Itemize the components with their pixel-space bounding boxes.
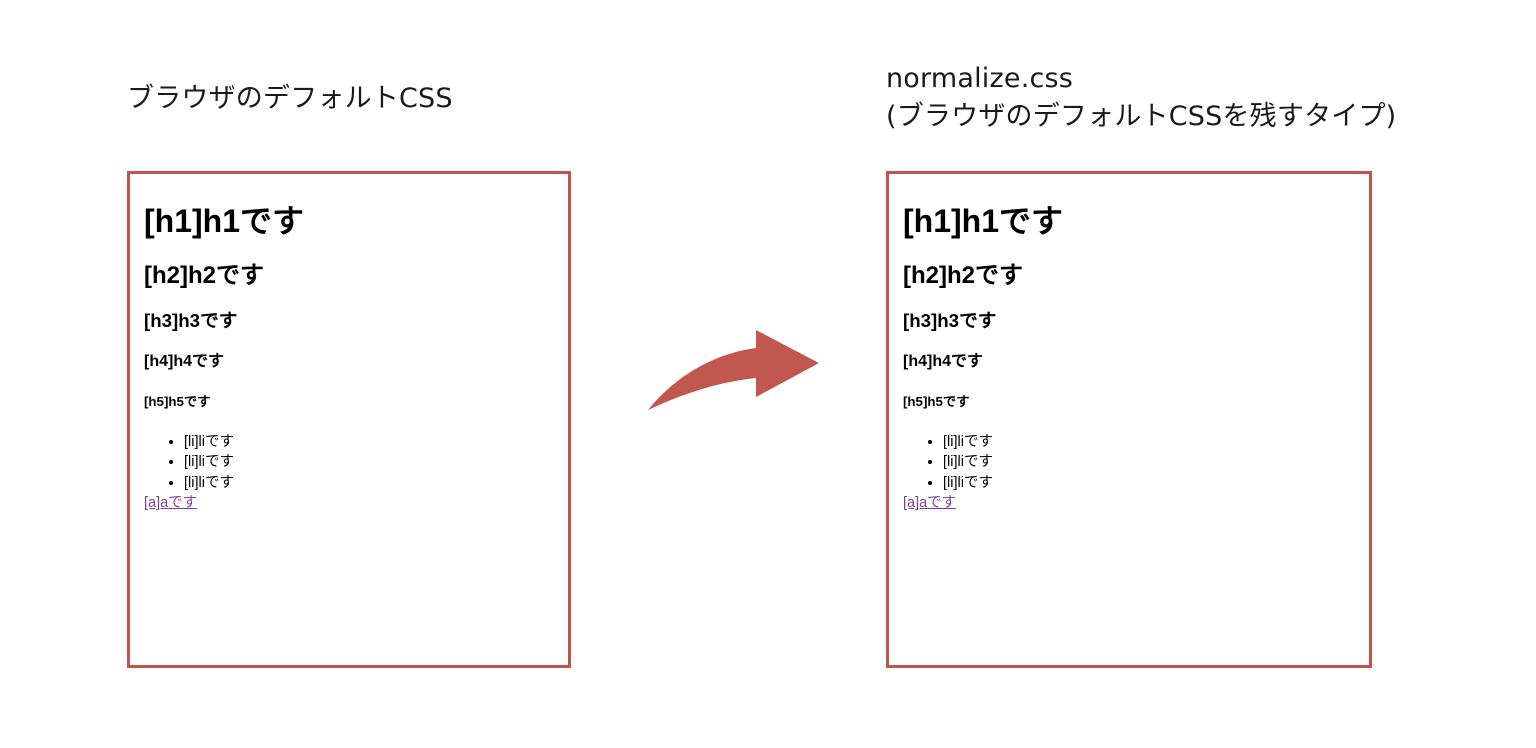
left-panel-caption: ブラウザのデフォルトCSS [127, 80, 453, 118]
transition-arrow [638, 318, 833, 418]
right-anchor-link[interactable]: [a]aです [903, 495, 956, 511]
list-item: [li]liです [184, 473, 554, 494]
left-heading-h3: [h3]h3です [144, 310, 554, 332]
right-heading-h1: [h1]h1です [903, 203, 1355, 241]
left-rendered-document: [h1]h1です [h2]h2です [h3]h3です [h4]h4です [h5]… [130, 174, 568, 522]
curved-right-arrow-icon [638, 318, 833, 418]
left-heading-h1: [h1]h1です [144, 203, 554, 241]
right-unordered-list: [li]liです [li]liです [li]liです [903, 432, 1355, 494]
right-heading-h5: [h5]h5です [903, 394, 1355, 410]
diagram-canvas: ブラウザのデフォルトCSS [h1]h1です [h2]h2です [h3]h3です… [0, 0, 1536, 748]
right-link-line: [a]aです [903, 493, 1355, 514]
list-item: [li]liです [943, 473, 1355, 494]
right-caption-line-1: normalize.css [886, 60, 1396, 98]
right-panel-caption: normalize.css (ブラウザのデフォルトCSSを残すタイプ) [886, 60, 1396, 136]
left-anchor-link[interactable]: [a]aです [144, 495, 197, 511]
right-caption-line-2: (ブラウザのデフォルトCSSを残すタイプ) [886, 98, 1396, 136]
left-heading-h5: [h5]h5です [144, 394, 554, 410]
right-heading-h4: [h4]h4です [903, 353, 1355, 372]
left-unordered-list: [li]liです [li]liです [li]liです [144, 432, 554, 494]
right-rendered-document: [h1]h1です [h2]h2です [h3]h3です [h4]h4です [h5]… [889, 174, 1369, 522]
right-heading-h3: [h3]h3です [903, 310, 1355, 332]
right-heading-h2: [h2]h2です [903, 262, 1355, 290]
normalize-css-panel: [h1]h1です [h2]h2です [h3]h3です [h4]h4です [h5]… [886, 171, 1372, 668]
list-item: [li]liです [184, 432, 554, 453]
list-item: [li]liです [943, 432, 1355, 453]
left-heading-h4: [h4]h4です [144, 353, 554, 372]
left-heading-h2: [h2]h2です [144, 262, 554, 290]
left-link-line: [a]aです [144, 493, 554, 514]
list-item: [li]liです [184, 452, 554, 473]
list-item: [li]liです [943, 452, 1355, 473]
browser-default-css-panel: [h1]h1です [h2]h2です [h3]h3です [h4]h4です [h5]… [127, 171, 571, 668]
